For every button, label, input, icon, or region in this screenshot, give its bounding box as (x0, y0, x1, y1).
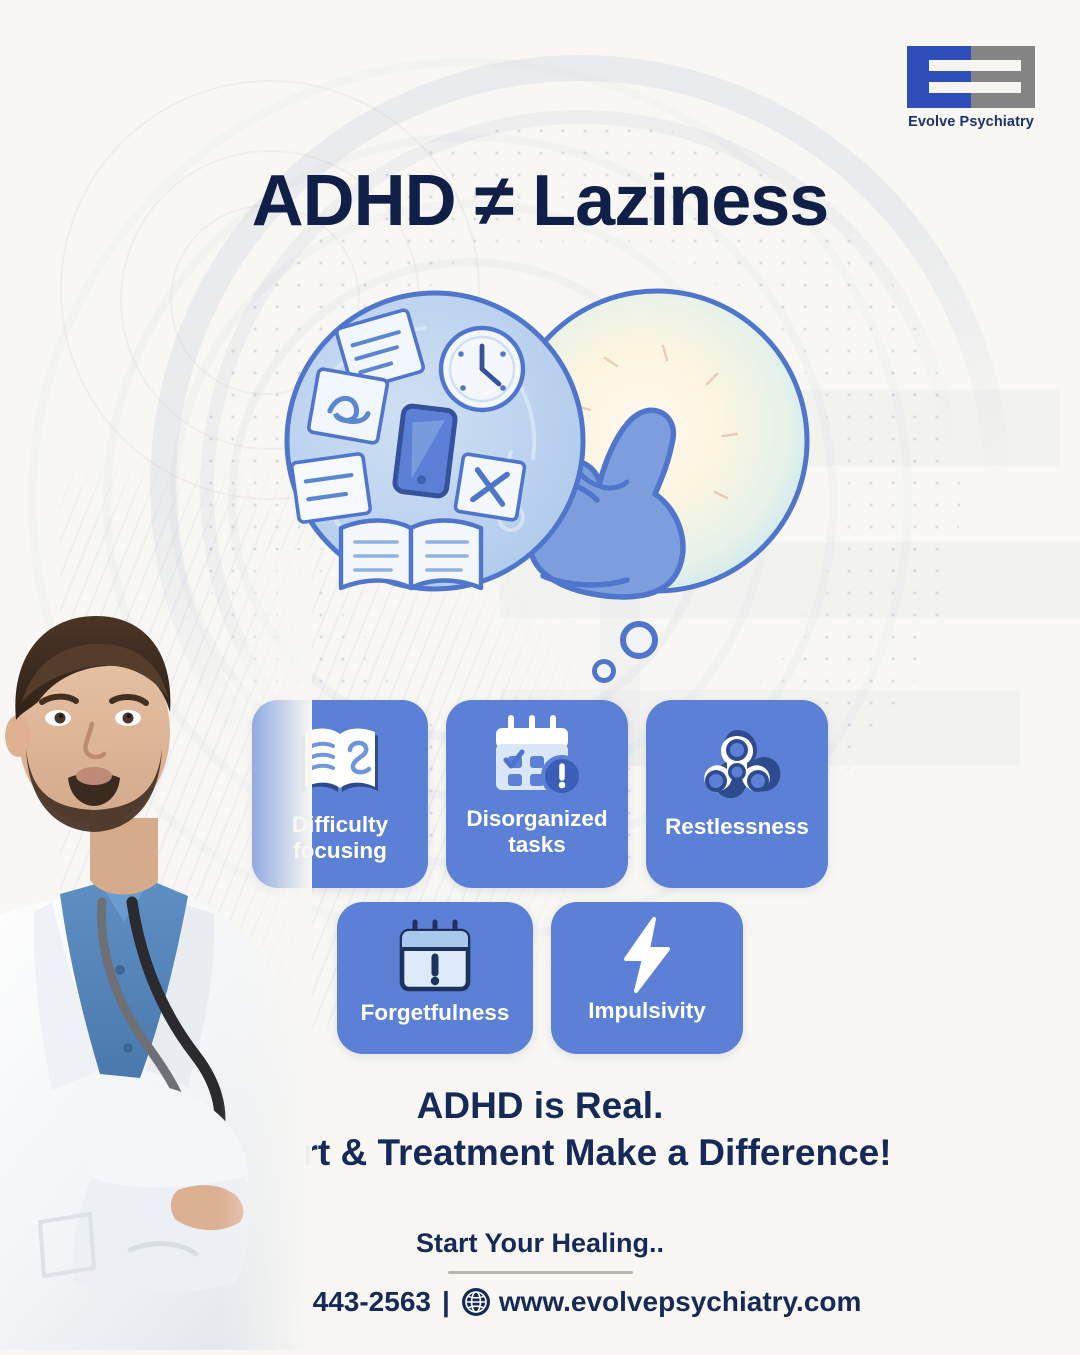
thought-bubble-svg (275, 266, 820, 626)
symptom-card-label: Restlessness (665, 814, 809, 840)
open-book-icon-illustration (341, 521, 481, 589)
lightning-bolt-icon (614, 920, 680, 990)
symptom-card-restlessness[interactable]: Restlessness (646, 700, 828, 888)
x-mark-note (455, 454, 525, 521)
footer-website[interactable]: www.evolvepsychiatry.com (499, 1286, 862, 1318)
calendar-alert-icon (490, 718, 584, 796)
brand-name: Evolve Psychiatry (898, 114, 1044, 130)
evolve-e-logo-icon (907, 46, 1035, 108)
calendar-exclamation-icon (395, 922, 475, 992)
brand-logo[interactable]: Evolve Psychiatry (898, 46, 1044, 130)
footer-divider (448, 1271, 633, 1274)
thought-bubble-illustration (275, 266, 820, 676)
page-title: ADHD ≠ Laziness (0, 160, 1080, 242)
symptom-card-forgetfulness[interactable]: Forgetfulness (337, 902, 533, 1054)
clock-icon (441, 328, 523, 410)
globe-icon (461, 1287, 491, 1317)
symptom-card-label: Disorganized tasks (454, 806, 620, 858)
thought-bubble-dot-small (592, 659, 616, 683)
footer-separator: | (442, 1286, 450, 1318)
smartphone-icon (394, 405, 456, 497)
symptom-card-label: Forgetfulness (361, 1000, 510, 1026)
squiggle-note (308, 368, 388, 443)
symptom-card-disorganized-tasks[interactable]: Disorganized tasks (446, 700, 628, 888)
scattered-paper-note-2 (291, 453, 371, 522)
doctor-photo (0, 550, 312, 1350)
thought-bubble-dot-large (620, 621, 658, 659)
symptom-card-label: Impulsivity (588, 998, 706, 1024)
fidget-spinner-icon (693, 726, 781, 804)
symptom-card-impulsivity[interactable]: Impulsivity (551, 902, 743, 1054)
